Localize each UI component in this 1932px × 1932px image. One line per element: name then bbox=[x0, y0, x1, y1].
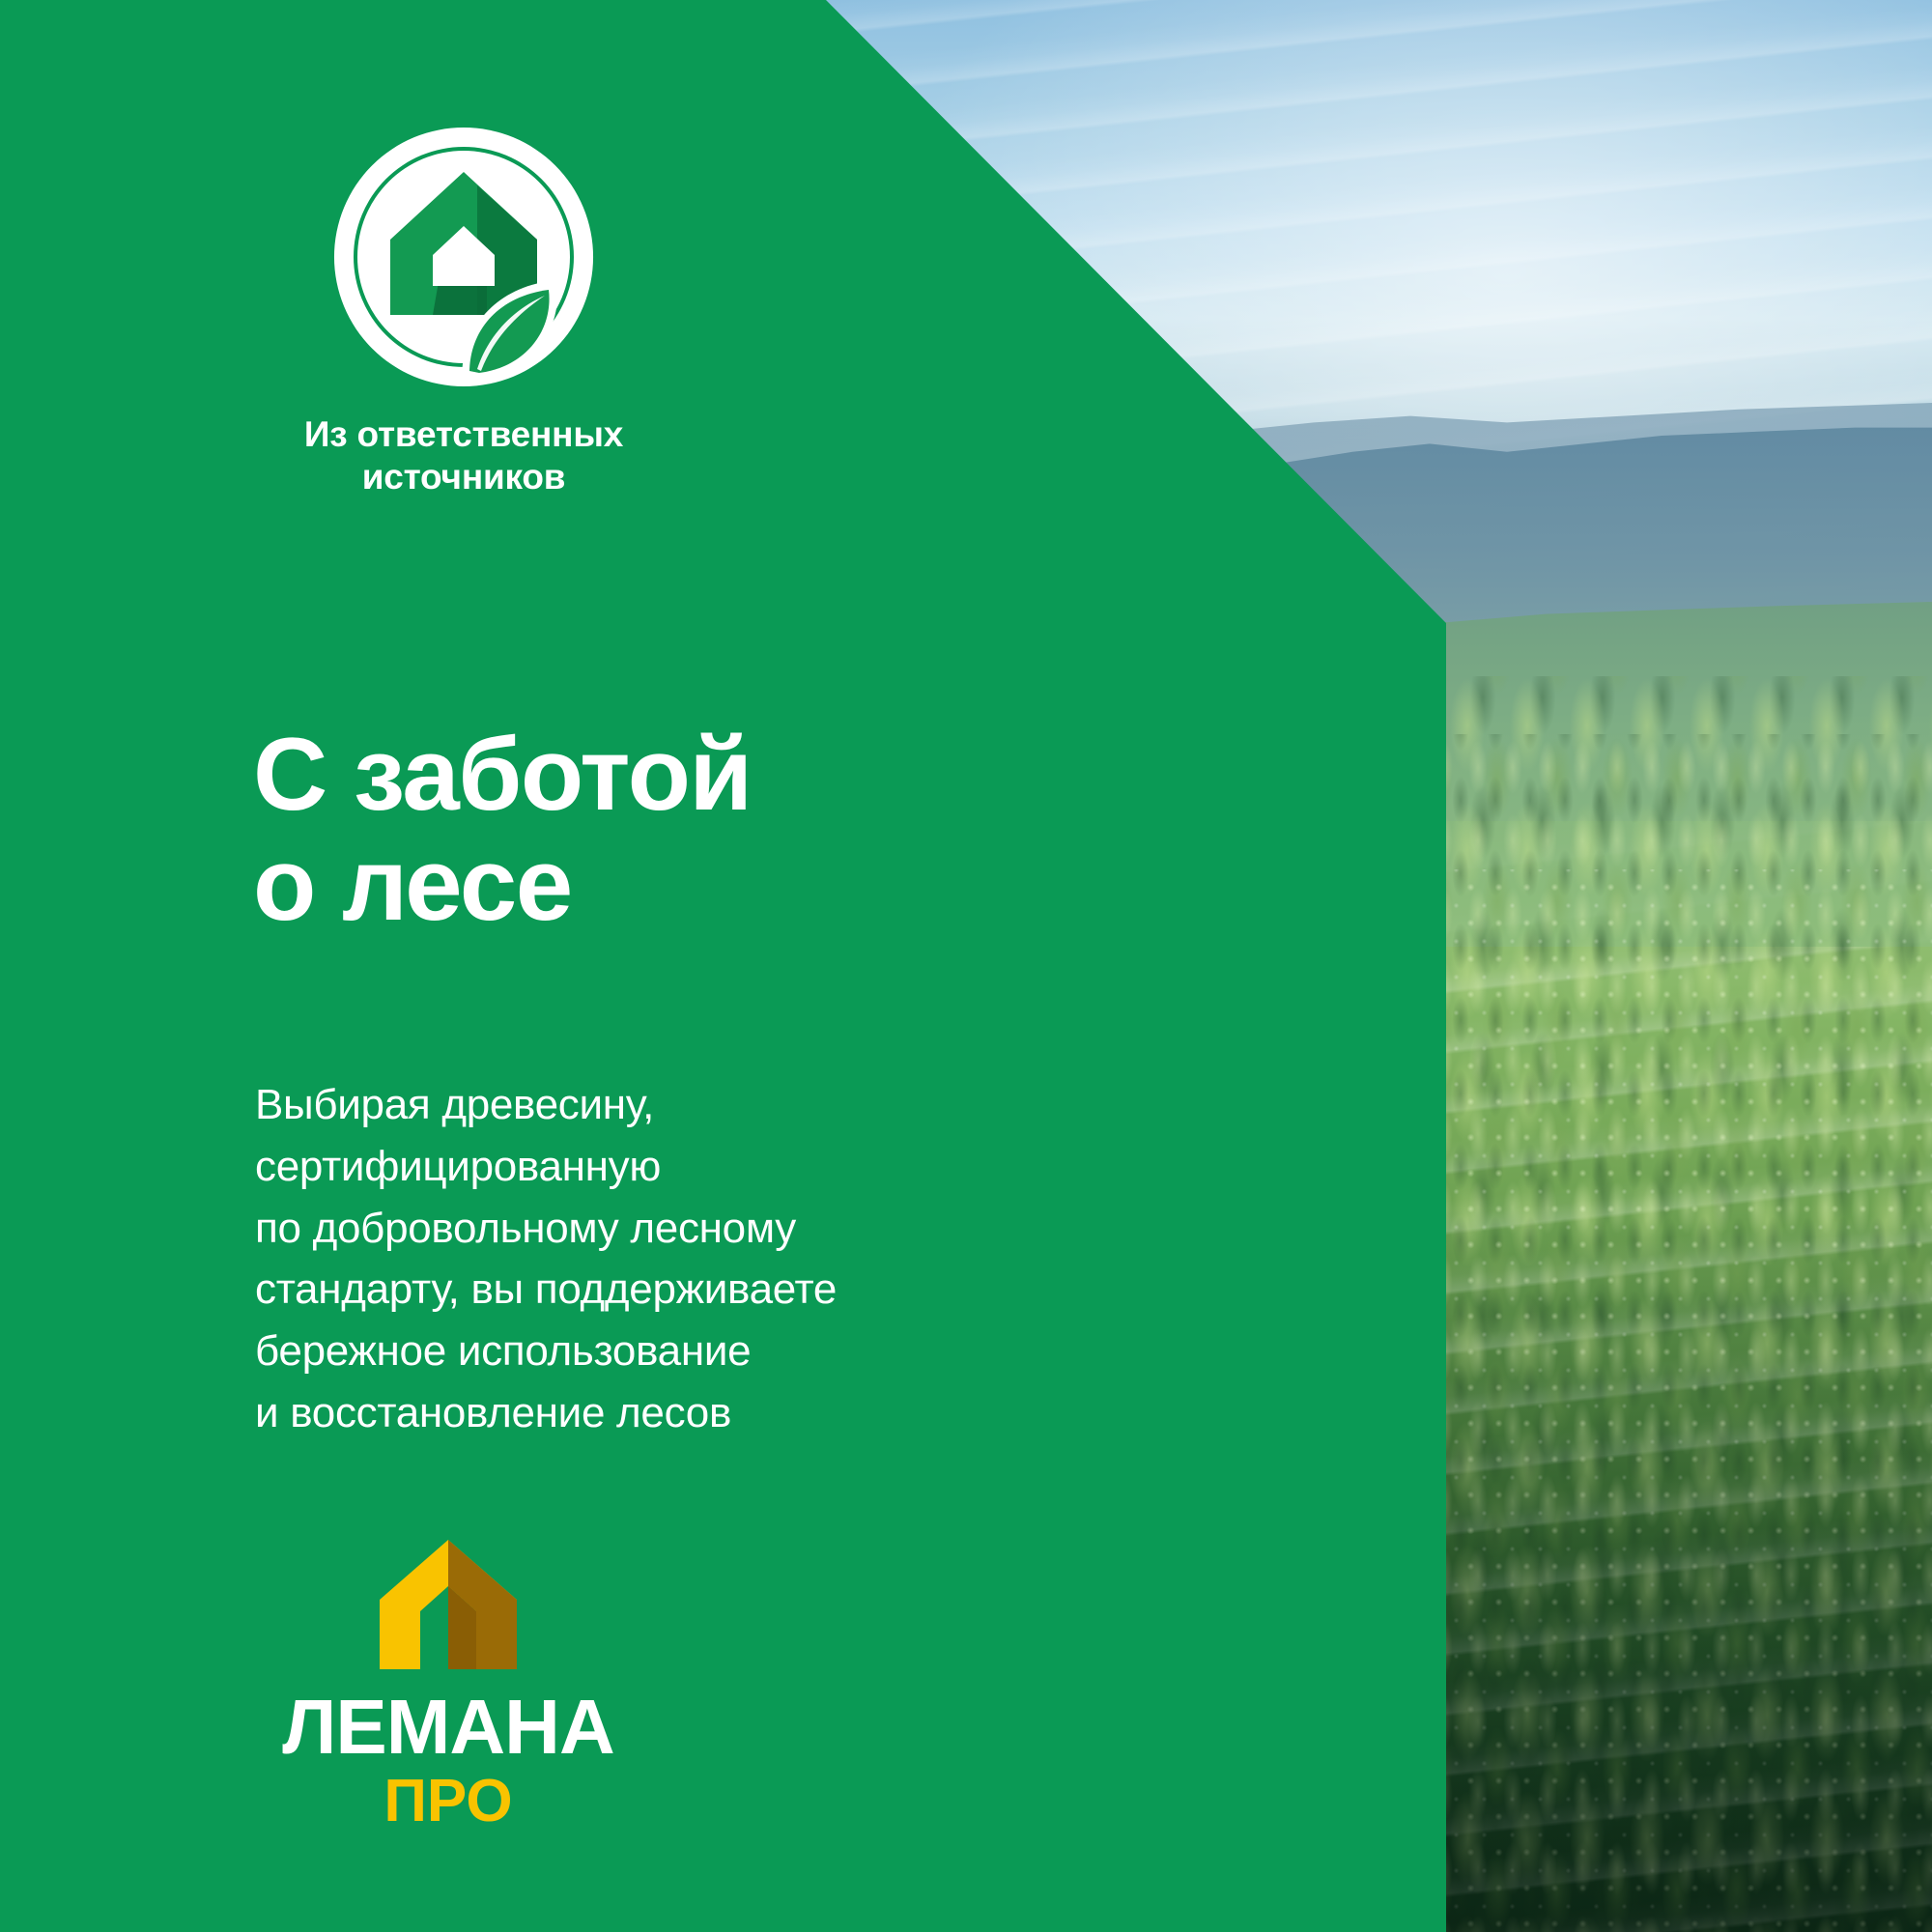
poster-content: Из ответственных источников С заботой о … bbox=[0, 0, 1932, 1932]
eco-certification-badge: Из ответственных источников bbox=[246, 126, 681, 497]
eco-house-leaf-circle-icon bbox=[332, 126, 595, 388]
brand-name-label: ЛЕМАНА bbox=[255, 1689, 641, 1766]
page-title: С заботой о лесе bbox=[253, 719, 752, 940]
body-paragraph: Выбирая древесину, сертифицированную по … bbox=[255, 1074, 837, 1444]
eco-badge-caption: Из ответственных источников bbox=[246, 413, 681, 497]
lemana-pro-logo: ЛЕМАНА ПРО bbox=[255, 1536, 641, 1832]
poster-canvas: Из ответственных источников С заботой о … bbox=[0, 0, 1932, 1932]
brand-suffix-label: ПРО bbox=[255, 1772, 641, 1832]
lemana-house-icon bbox=[376, 1536, 521, 1673]
